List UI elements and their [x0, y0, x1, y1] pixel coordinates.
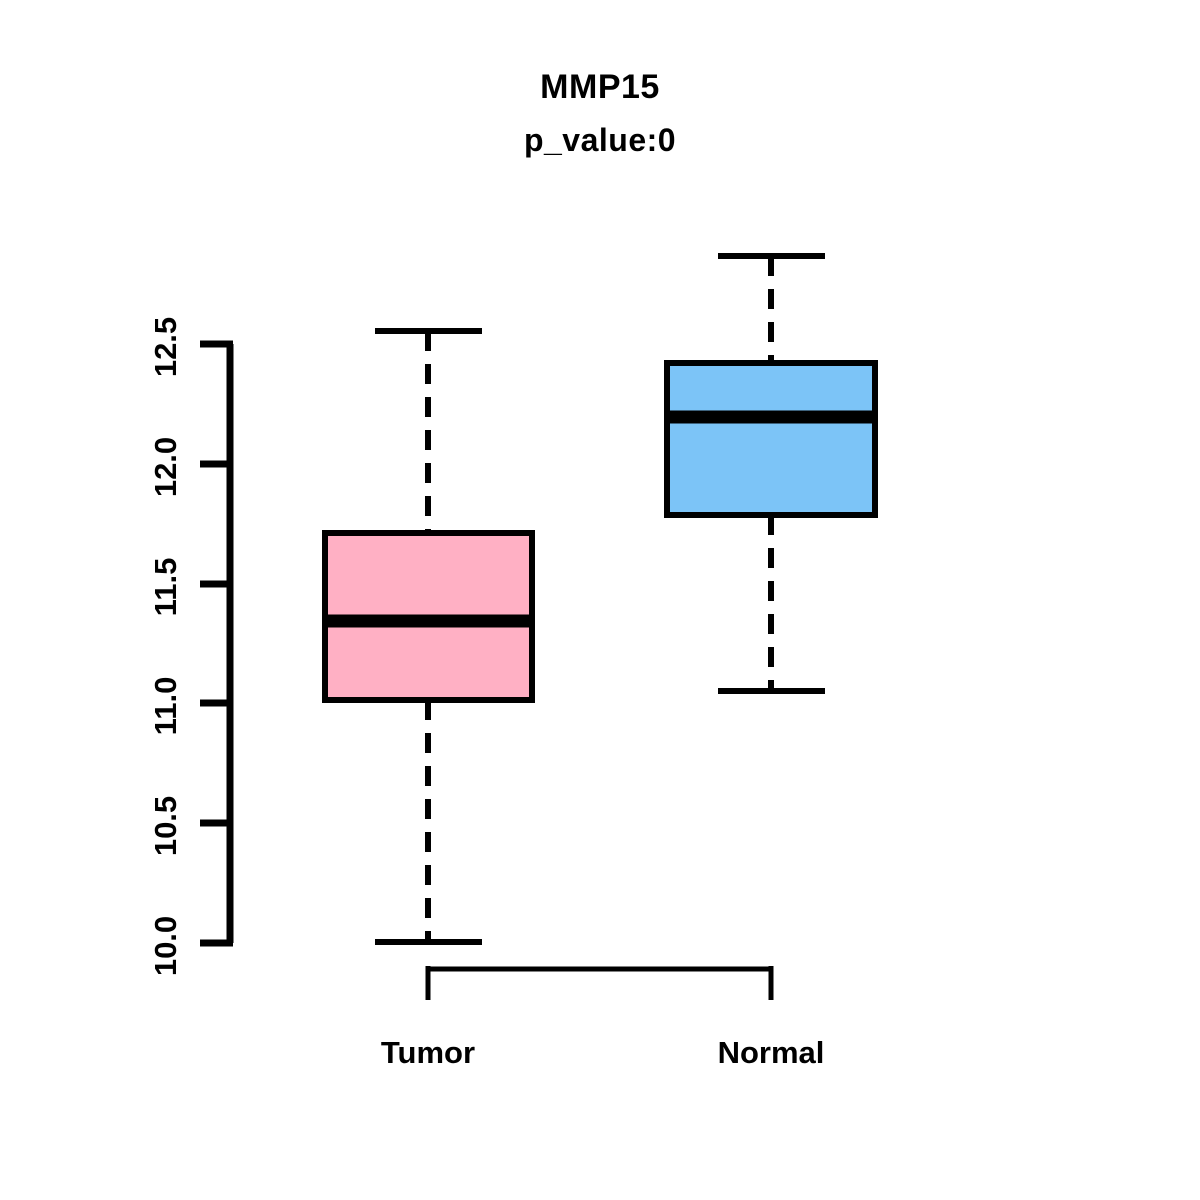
- box-rect-normal: [667, 363, 875, 515]
- x-tick-label-normal: Normal: [631, 1035, 911, 1071]
- y-tick-label-10.0: 10.0: [148, 906, 184, 986]
- y-tick-label-12.5: 12.5: [148, 307, 184, 387]
- box-tumor: [322, 331, 535, 942]
- y-tick-label-11.0: 11.0: [148, 666, 184, 746]
- box-normal: [664, 256, 878, 691]
- y-tick-label-11.5: 11.5: [148, 547, 184, 627]
- x-tick-label-tumor: Tumor: [288, 1035, 568, 1071]
- y-axis: [200, 344, 233, 943]
- y-tick-label-12.0: 12.0: [148, 427, 184, 507]
- y-tick-label-10.5: 10.5: [148, 786, 184, 866]
- boxplot-figure: MMP15 p_value:0 Gene Expression Level (l…: [0, 0, 1200, 1200]
- x-axis: [428, 966, 771, 1000]
